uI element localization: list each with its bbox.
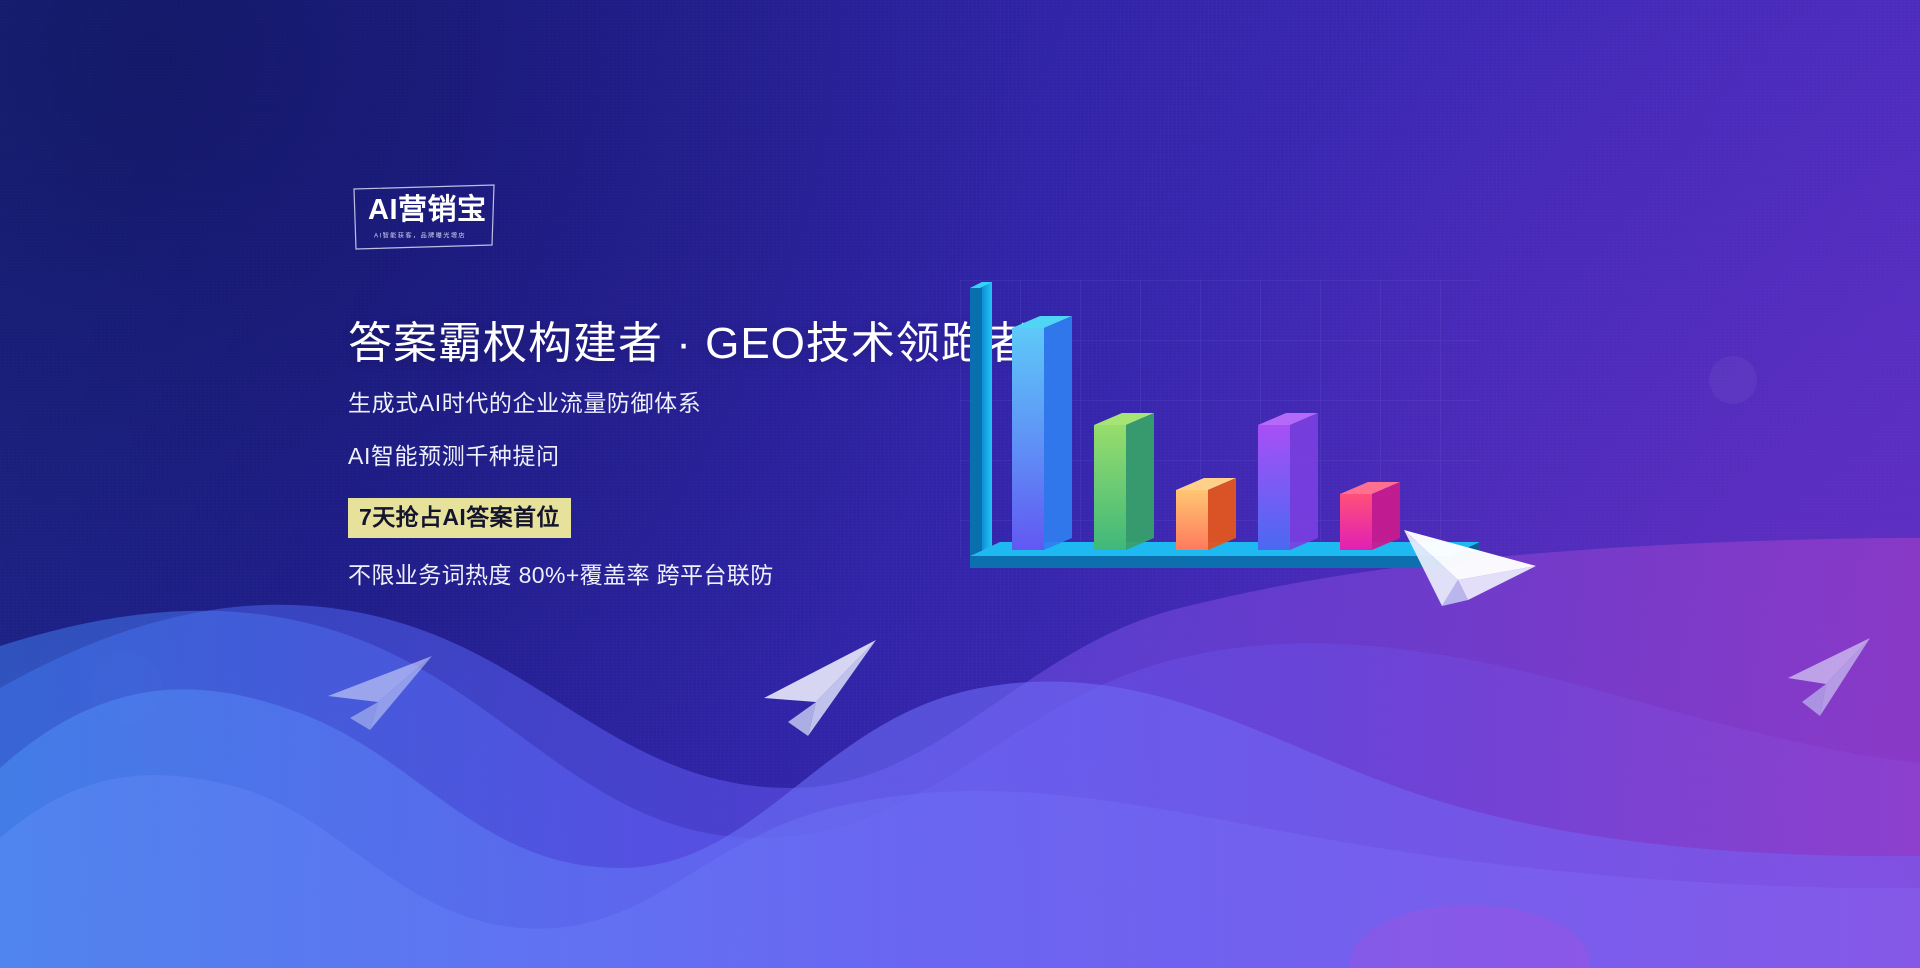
chart-bar-5: [1340, 482, 1400, 550]
chart-bar-2: [1094, 413, 1154, 550]
chart-bar-3: [1176, 478, 1236, 550]
brand-logo[interactable]: AI营销宝 AI智能获客，品牌曝光增店: [352, 183, 496, 251]
paper-plane-left-icon: [322, 644, 440, 744]
bar-chart-illustration: [960, 280, 1480, 680]
paper-plane-chart-icon: [1398, 508, 1538, 613]
chart-bar-1: [1012, 316, 1072, 550]
highlight-badge: 7天抢占AI答案首位: [348, 498, 571, 538]
glow-circle: [1709, 356, 1757, 404]
paper-plane-mid-icon: [758, 636, 883, 746]
paper-plane-right-icon: [1778, 632, 1878, 728]
chart-y-axis: [970, 282, 992, 556]
logo-wordmark: AI营销宝: [368, 196, 487, 225]
logo-tagline: AI智能获客，品牌曝光增店: [374, 230, 466, 240]
hero-banner: AI营销宝 AI智能获客，品牌曝光增店 答案霸权构建者 · GEO技术领跑者 生…: [0, 0, 1920, 968]
chart-bar-4: [1258, 413, 1318, 550]
